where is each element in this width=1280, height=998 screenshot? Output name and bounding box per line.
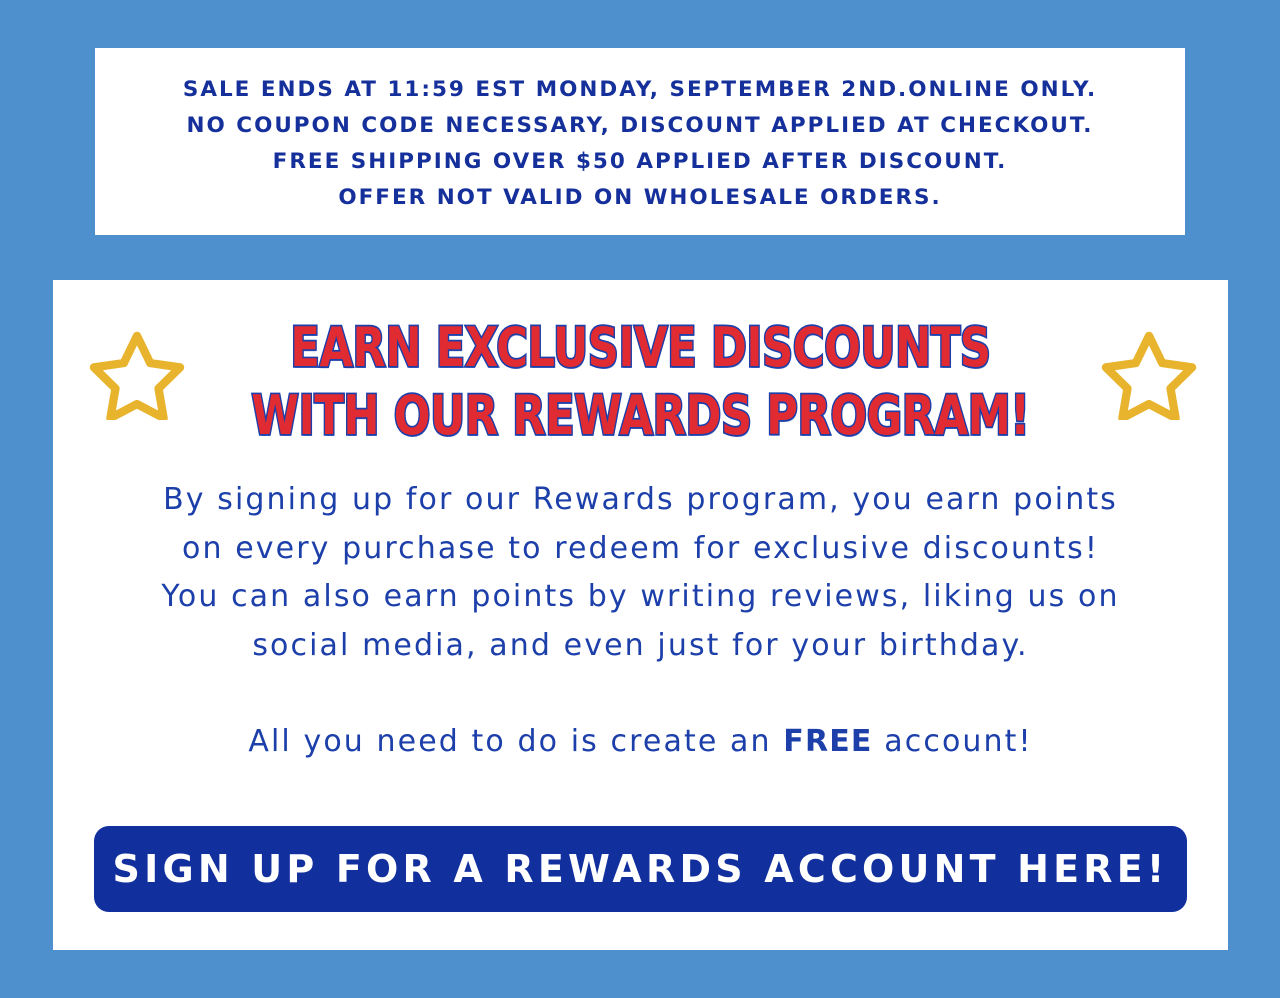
paragraph-spacer [53, 670, 1228, 718]
headline-line-2: WITH OUR REWARDS PROGRAM! [171, 382, 1111, 450]
terms-line-4: OFFER NOT VALID ON WHOLESALE ORDERS. [338, 180, 941, 216]
body-line-4: social media, and even just for your bir… [53, 622, 1228, 671]
page-title: EARN EXCLUSIVE DISCOUNTS WITH OUR REWARD… [53, 314, 1228, 450]
body-line-1: By signing up for our Rewards program, y… [53, 476, 1228, 525]
body-copy: By signing up for our Rewards program, y… [53, 476, 1228, 767]
terms-line-3: FREE SHIPPING OVER $50 APPLIED AFTER DIS… [273, 144, 1008, 180]
rewards-card: EARN EXCLUSIVE DISCOUNTS WITH OUR REWARD… [53, 280, 1228, 950]
body-line-2: on every purchase to redeem for exclusiv… [53, 525, 1228, 574]
terms-line-2: NO COUPON CODE NECESSARY, DISCOUNT APPLI… [187, 108, 1094, 144]
body-line-5-pre: All you need to do is create an [248, 724, 783, 759]
terms-line-1: SALE ENDS AT 11:59 EST MONDAY, SEPTEMBER… [183, 72, 1097, 108]
body-line-5: All you need to do is create an FREE acc… [53, 718, 1228, 767]
body-line-5-emphasis: FREE [783, 724, 872, 759]
terms-banner: SALE ENDS AT 11:59 EST MONDAY, SEPTEMBER… [95, 48, 1185, 235]
body-line-3: You can also earn points by writing revi… [53, 573, 1228, 622]
body-line-5-post: account! [873, 724, 1033, 759]
signup-rewards-button[interactable]: SIGN UP FOR A REWARDS ACCOUNT HERE! [94, 826, 1187, 912]
promo-page: SALE ENDS AT 11:59 EST MONDAY, SEPTEMBER… [0, 0, 1280, 998]
headline-line-1: EARN EXCLUSIVE DISCOUNTS [171, 314, 1111, 382]
